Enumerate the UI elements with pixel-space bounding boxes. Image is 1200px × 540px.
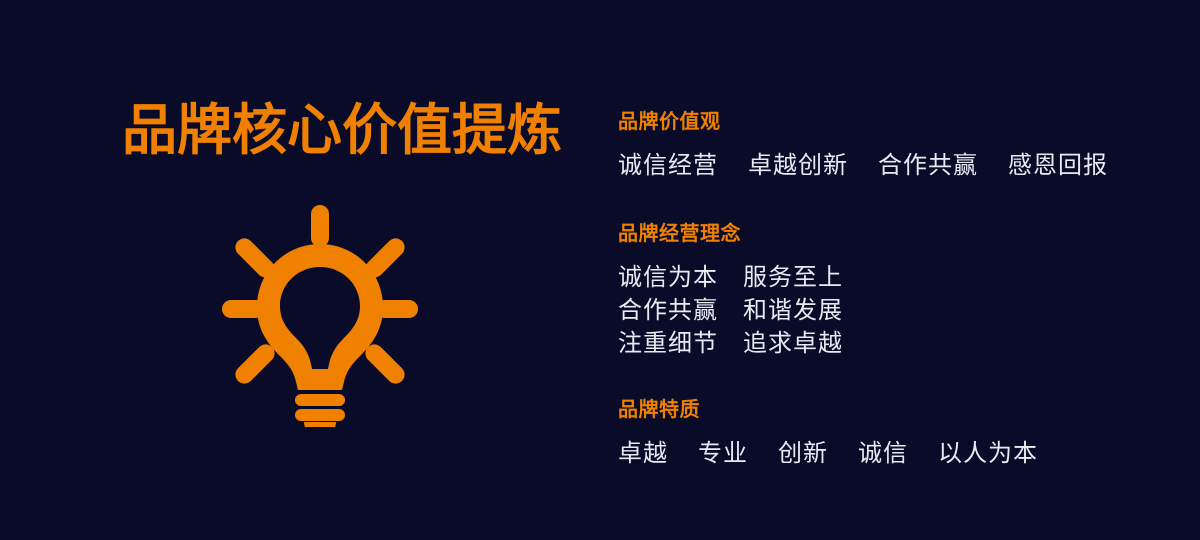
philosophy-row: 诚信为本 服务至上 [618, 261, 1178, 294]
section-heading: 品牌价值观 [618, 110, 1178, 135]
section-brand-values: 品牌价值观 诚信经营 卓越创新 合作共赢 感恩回报 [618, 110, 1178, 182]
traits-item-row: 卓越 专业 创新 诚信 以人为本 [618, 437, 1178, 470]
value-item: 卓越创新 [748, 149, 848, 182]
section-management-philosophy: 品牌经营理念 诚信为本 服务至上 合作共赢 和谐发展 注重细节 追求卓越 [618, 222, 1178, 360]
left-panel: 品牌核心价值提炼 [0, 0, 580, 540]
value-item: 感恩回报 [1008, 149, 1108, 182]
philosophy-row: 合作共赢 和谐发展 [618, 294, 1178, 327]
trait-item: 诚信 [858, 437, 908, 470]
philosophy-item: 追求卓越 [743, 327, 843, 360]
trait-item: 创新 [778, 437, 828, 470]
section-heading: 品牌特质 [618, 398, 1178, 423]
section-brand-traits: 品牌特质 卓越 专业 创新 诚信 以人为本 [618, 398, 1178, 470]
value-item: 合作共赢 [878, 149, 978, 182]
philosophy-item: 和谐发展 [743, 294, 843, 327]
section-heading: 品牌经营理念 [618, 222, 1178, 247]
trait-item: 专业 [698, 437, 748, 470]
philosophy-item: 诚信为本 [618, 261, 743, 294]
trait-item: 卓越 [618, 437, 668, 470]
slide-canvas: 品牌核心价值提炼 [0, 0, 1200, 540]
philosophy-item: 注重细节 [618, 327, 743, 360]
trait-item: 以人为本 [938, 437, 1038, 470]
lightbulb-icon [210, 192, 430, 427]
philosophy-grid: 诚信为本 服务至上 合作共赢 和谐发展 注重细节 追求卓越 [618, 261, 1178, 360]
philosophy-item: 合作共赢 [618, 294, 743, 327]
right-panel: 品牌价值观 诚信经营 卓越创新 合作共赢 感恩回报 品牌经营理念 诚信为本 服务… [618, 0, 1178, 540]
philosophy-row: 注重细节 追求卓越 [618, 327, 1178, 360]
page-title: 品牌核心价值提炼 [122, 103, 562, 158]
value-item: 诚信经营 [618, 149, 718, 182]
values-item-row: 诚信经营 卓越创新 合作共赢 感恩回报 [618, 149, 1178, 182]
philosophy-item: 服务至上 [743, 261, 843, 294]
